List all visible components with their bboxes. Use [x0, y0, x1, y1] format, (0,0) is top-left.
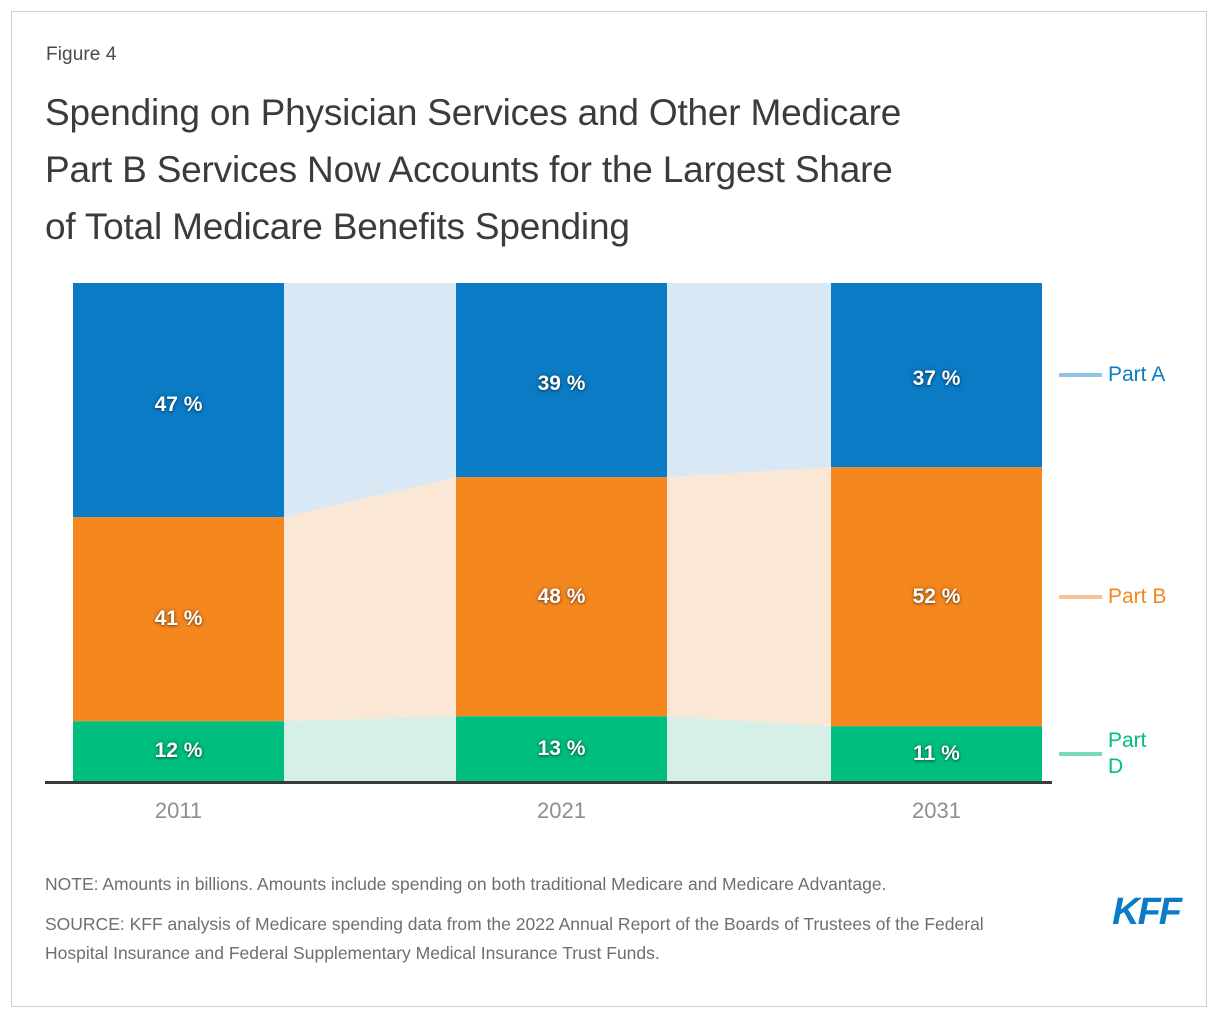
chart-title: Spending on Physician Services and Other…: [45, 84, 1185, 255]
kff-logo: KFF: [1112, 891, 1180, 934]
x-axis-tick-label: 2011: [155, 798, 202, 824]
chart-title-line-3: of Total Medicare Benefits Spending: [45, 198, 1185, 255]
legend-line-layer: [1059, 375, 1102, 754]
ribbon-part-b: [667, 467, 831, 726]
x-axis-tick-label: 2031: [912, 798, 961, 824]
bar-segment-layer: [73, 283, 1042, 781]
legend-label-part-d[interactable]: Part D: [1108, 728, 1147, 780]
footnote-block: NOTE: Amounts in billions. Amounts inclu…: [45, 870, 1005, 968]
legend-label-part-b[interactable]: Part B: [1108, 584, 1166, 610]
bar-value-label: 52 %: [913, 585, 961, 609]
ribbon-part-d: [284, 716, 456, 781]
chart-title-line-1: Spending on Physician Services and Other…: [45, 84, 1185, 141]
bar-value-label: 47 %: [155, 393, 203, 417]
ribbon-part-a: [284, 283, 456, 517]
legend-label-part-a[interactable]: Part A: [1108, 362, 1165, 388]
bar-value-label: 12 %: [155, 739, 203, 763]
bar-value-label: 41 %: [155, 607, 203, 631]
bar-value-label: 48 %: [538, 585, 586, 609]
figure-number-label: Figure 4: [46, 44, 117, 66]
bar-value-label: 11 %: [913, 742, 960, 766]
bar-value-label: 37 %: [913, 367, 961, 391]
x-axis-tick-label: 2021: [537, 798, 586, 824]
ribbon-part-a: [667, 283, 831, 477]
connecting-ribbon-layer: [284, 283, 831, 781]
ribbon-part-d: [667, 716, 831, 781]
note-text: NOTE: Amounts in billions. Amounts inclu…: [45, 870, 1005, 899]
ribbon-part-b: [284, 477, 456, 721]
bar-value-label: 39 %: [538, 372, 586, 396]
chart-title-line-2: Part B Services Now Accounts for the Lar…: [45, 141, 1185, 198]
source-text: SOURCE: KFF analysis of Medicare spendin…: [45, 910, 1005, 968]
figure-container: Figure 4 Spending on Physician Services …: [11, 11, 1207, 1007]
bar-value-label: 13 %: [538, 737, 586, 761]
